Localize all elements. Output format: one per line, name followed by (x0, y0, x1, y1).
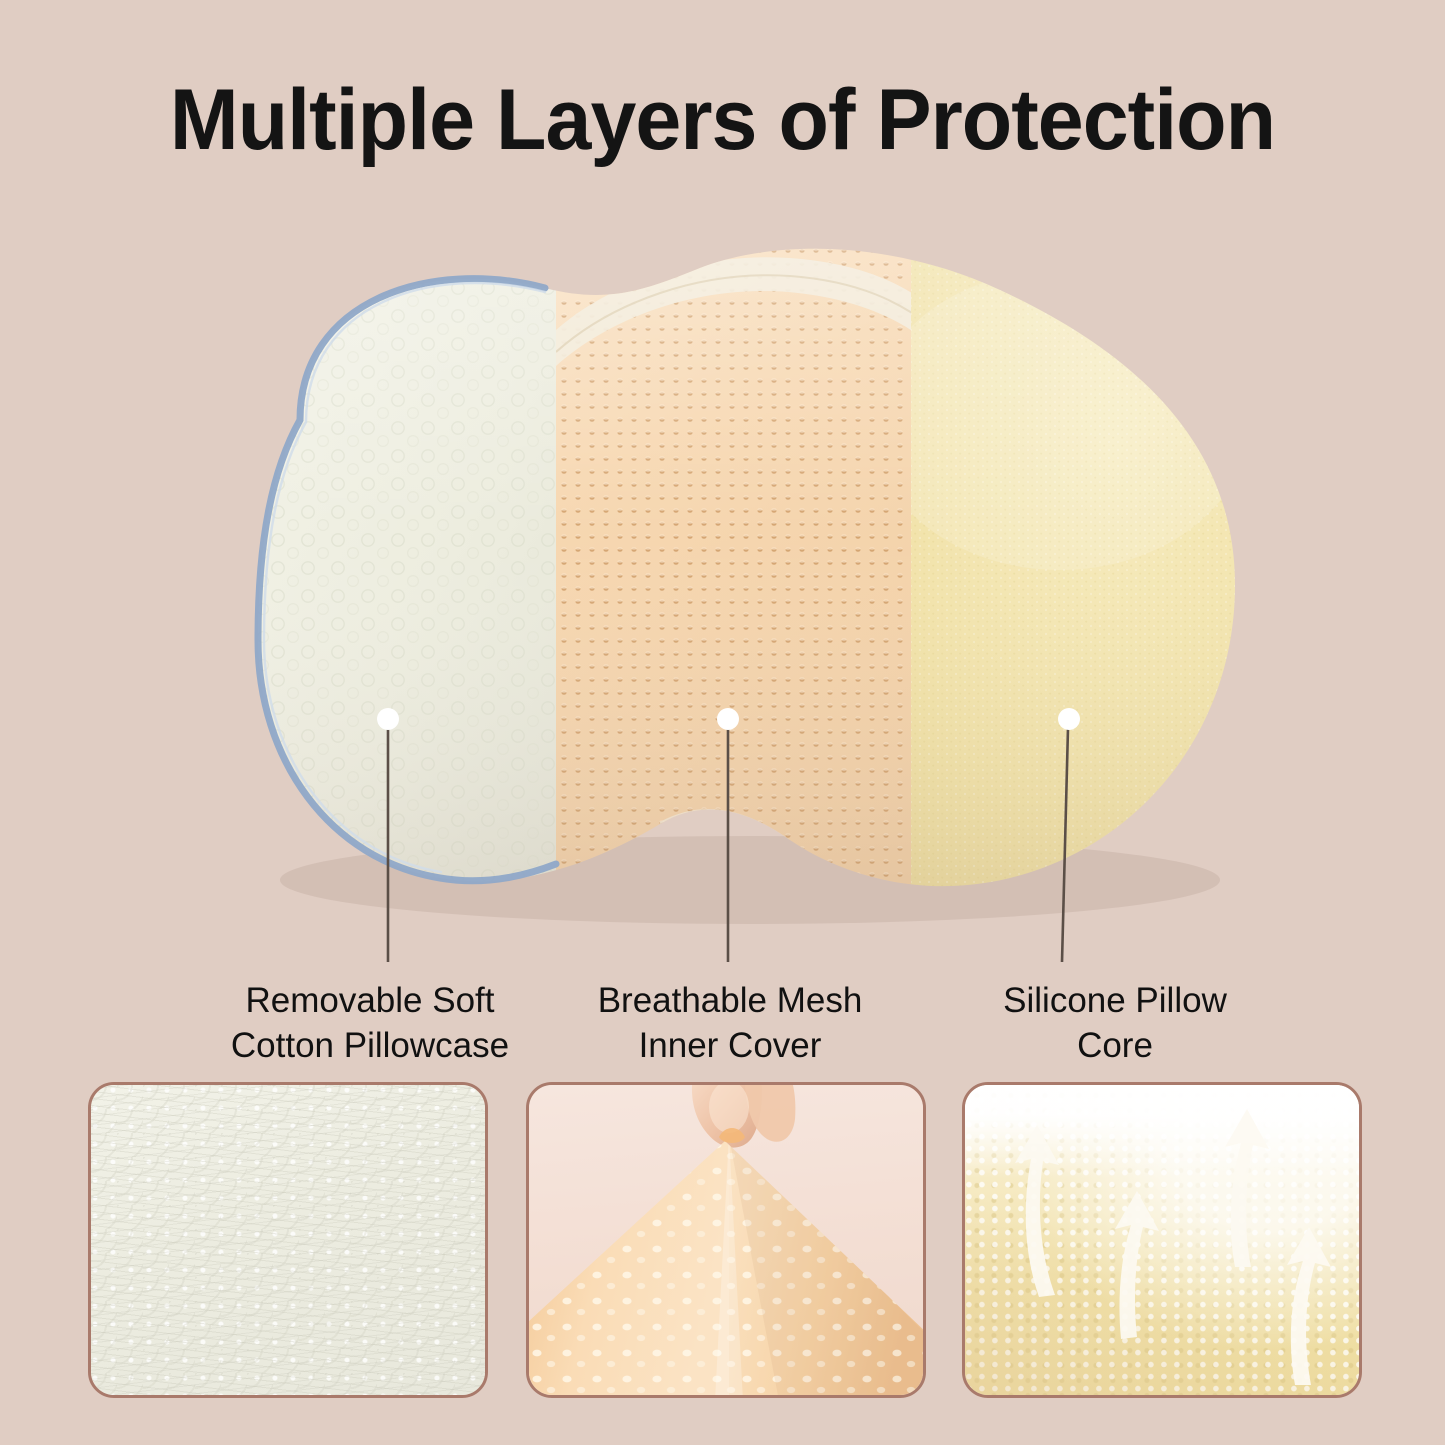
airflow-arrow-icon (1225, 1109, 1269, 1267)
cotton-fabric-image (91, 1085, 485, 1395)
mesh-cone (529, 1125, 926, 1398)
callout-label-mesh: Breathable Mesh Inner Cover (500, 978, 960, 1068)
mesh-stretch-image (529, 1085, 923, 1395)
callout-label-core: Silicone Pillow Core (900, 978, 1330, 1068)
detail-card-foam-airflow[interactable] (962, 1082, 1362, 1398)
airflow-arrow-icon (1115, 1191, 1159, 1339)
airflow-arrow-icon (1015, 1125, 1059, 1297)
detail-card-cotton-fabric[interactable] (88, 1082, 488, 1398)
detail-card-mesh-stretch[interactable] (526, 1082, 926, 1398)
airflow-arrows (1015, 1109, 1331, 1385)
airflow-arrow-icon (1287, 1227, 1331, 1385)
detail-card-row (0, 1082, 1445, 1402)
infographic-root: Multiple Layers of Protection (0, 0, 1445, 1445)
foam-airflow-image (965, 1085, 1359, 1395)
hero-pillow-illustration (0, 0, 1445, 1000)
